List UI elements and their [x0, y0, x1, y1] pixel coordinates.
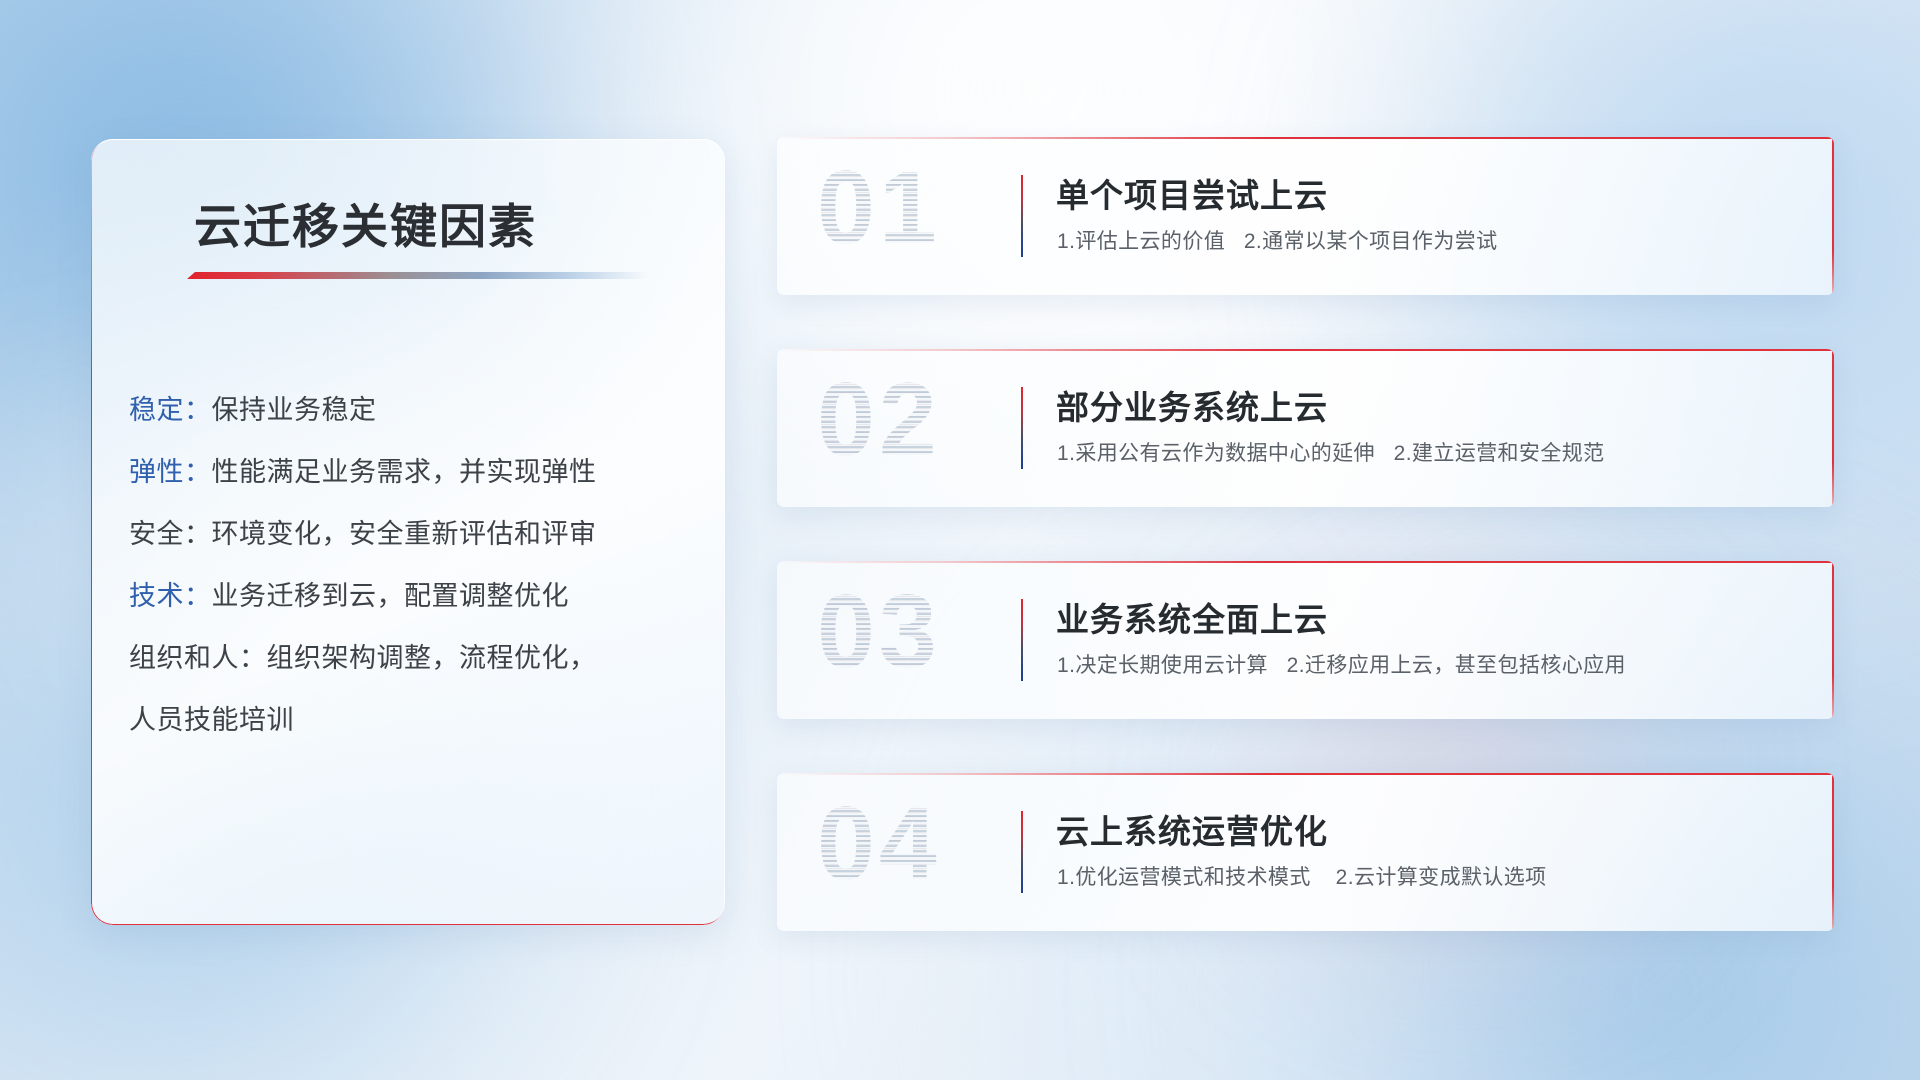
stage-description: 1.采用公有云作为数据中心的延伸 2.建立运营和安全规范 [1057, 437, 1605, 467]
cloud-migration-stage-cards: 0101单个项目尝试上云1.评估上云的价值 2.通常以某个项目作为尝试0202部… [777, 137, 1834, 985]
title-underline-rule [187, 272, 649, 279]
stage-divider-rule [1021, 175, 1023, 257]
stage-card[interactable]: 0404云上系统运营优化1.优化运营模式和技术模式 2.云计算变成默认选项 [777, 773, 1834, 931]
factor-row: 组织和人：组织架构调整，流程优化， [129, 627, 699, 689]
factor-label: 安全： [129, 519, 212, 549]
factor-value: 环境变化，安全重新评估和评审 [212, 519, 597, 549]
factor-row: 技术：业务迁移到云，配置调整优化 [129, 565, 699, 627]
stage-description: 1.决定长期使用云计算 2.迁移应用上云，甚至包括核心应用 [1057, 649, 1626, 679]
factor-label: 稳定： [129, 395, 212, 425]
factor-value: 业务迁移到云，配置调整优化 [212, 581, 570, 611]
factor-row: 弹性：性能满足业务需求，并实现弹性 [129, 441, 699, 503]
key-factors-panel: 云迁移关键因素 稳定：保持业务稳定弹性：性能满足业务需求，并实现弹性安全：环境变… [91, 139, 725, 925]
factor-row: 安全：环境变化，安全重新评估和评审 [129, 503, 699, 565]
stage-title: 业务系统全面上云 [1056, 593, 1328, 641]
stage-divider-rule [1021, 599, 1023, 681]
slide-content: 云迁移关键因素 稳定：保持业务稳定弹性：性能满足业务需求，并实现弹性安全：环境变… [0, 0, 1920, 1080]
factor-label: 弹性： [129, 457, 212, 487]
stage-description: 1.优化运营模式和技术模式 2.云计算变成默认选项 [1057, 861, 1547, 891]
page-title: 云迁移关键因素 [194, 188, 537, 257]
stage-card[interactable]: 0202部分业务系统上云1.采用公有云作为数据中心的延伸 2.建立运营和安全规范 [777, 349, 1834, 507]
factor-label: 组织和人： [129, 643, 267, 673]
factor-value: 人员技能培训 [129, 705, 294, 735]
factor-value: 保持业务稳定 [212, 395, 377, 425]
stage-title: 部分业务系统上云 [1056, 381, 1328, 429]
stage-number-watermark: 04 [817, 785, 941, 904]
factor-value: 组织架构调整，流程优化， [267, 643, 597, 673]
factor-row: 人员技能培训 [129, 689, 699, 751]
stage-number-watermark: 01 [817, 149, 941, 268]
stage-card[interactable]: 0101单个项目尝试上云1.评估上云的价值 2.通常以某个项目作为尝试 [777, 137, 1834, 295]
stage-divider-rule [1021, 387, 1023, 469]
stage-number-watermark: 02 [817, 361, 941, 480]
stage-card[interactable]: 0303业务系统全面上云1.决定长期使用云计算 2.迁移应用上云，甚至包括核心应… [777, 561, 1834, 719]
stage-number-watermark: 03 [817, 573, 941, 692]
factor-label: 技术： [129, 581, 212, 611]
factor-row: 稳定：保持业务稳定 [129, 379, 699, 441]
key-factors-list: 稳定：保持业务稳定弹性：性能满足业务需求，并实现弹性安全：环境变化，安全重新评估… [129, 379, 699, 751]
stage-title: 云上系统运营优化 [1056, 805, 1328, 853]
stage-description: 1.评估上云的价值 2.通常以某个项目作为尝试 [1057, 225, 1498, 255]
factor-value: 性能满足业务需求，并实现弹性 [212, 457, 597, 487]
stage-divider-rule [1021, 811, 1023, 893]
stage-title: 单个项目尝试上云 [1056, 169, 1328, 217]
